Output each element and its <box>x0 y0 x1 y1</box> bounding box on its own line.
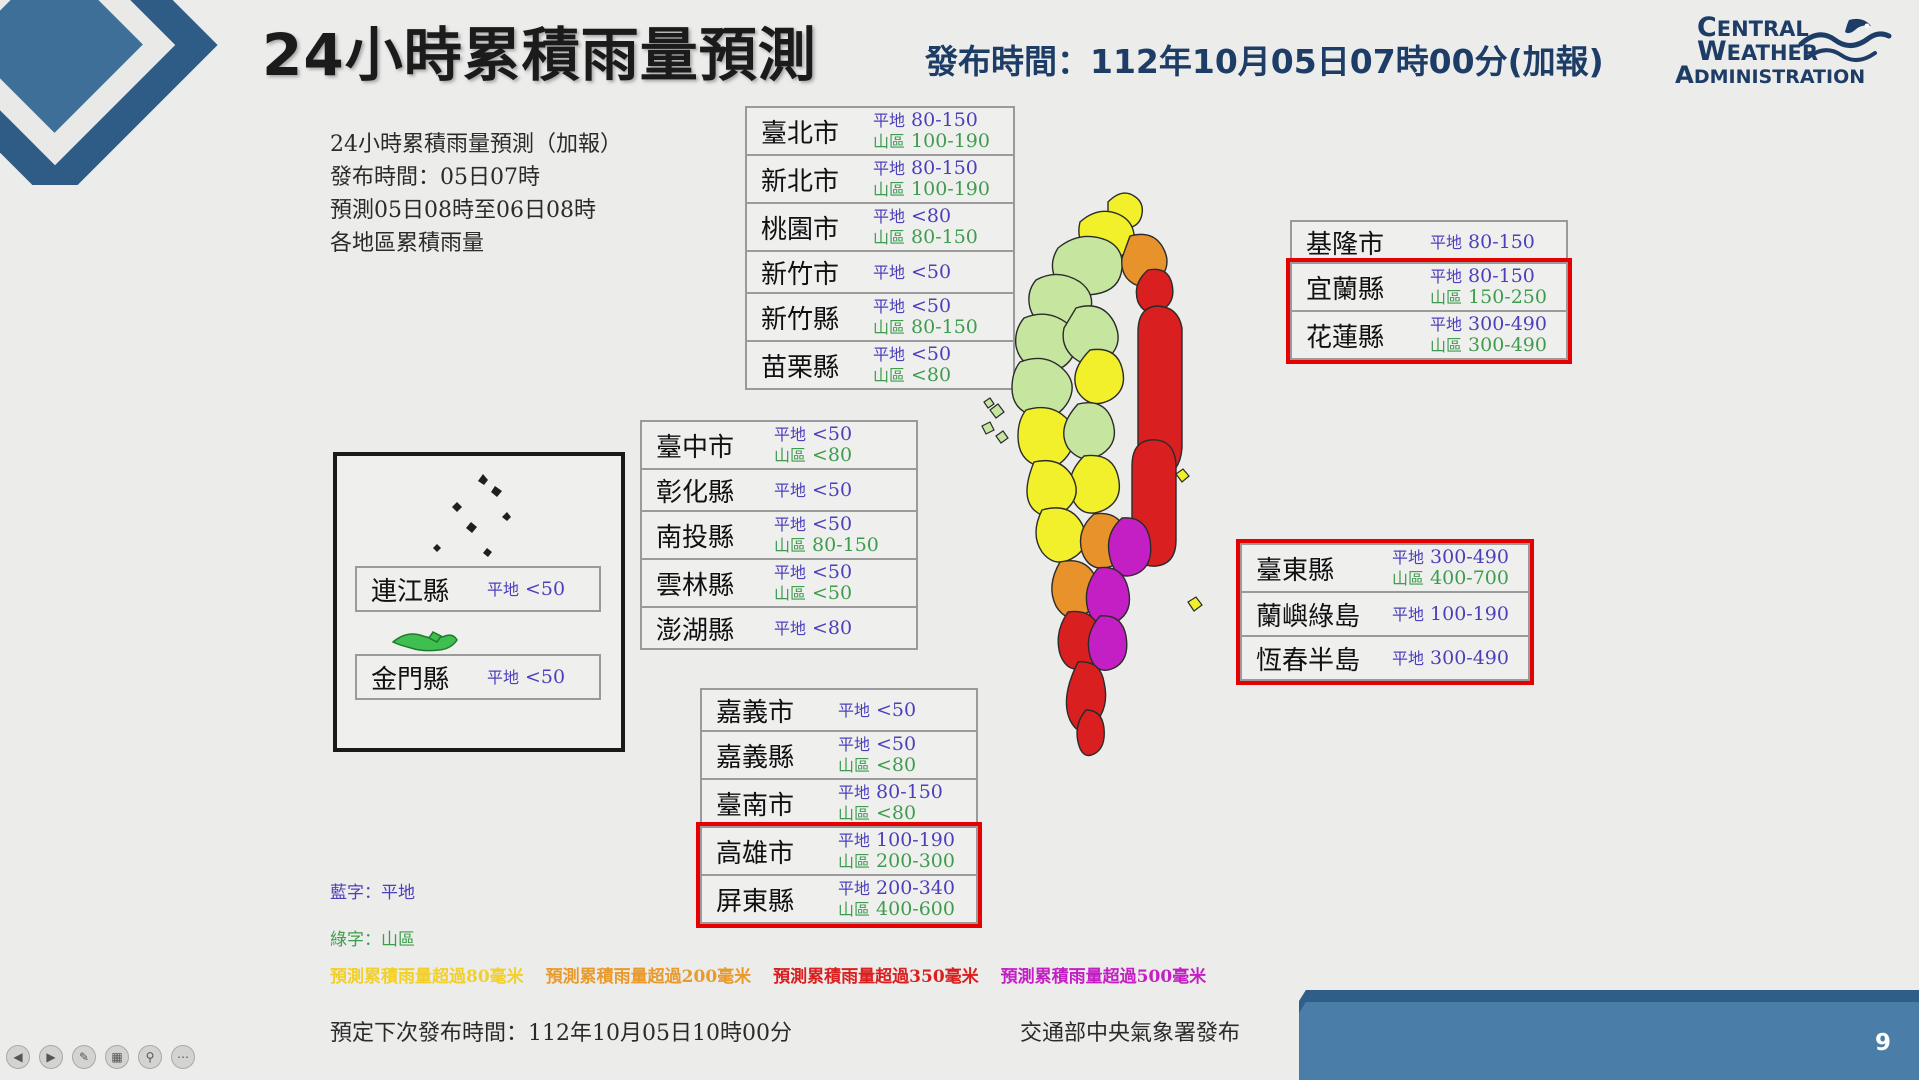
county-values: 平地<50 <box>487 579 565 600</box>
plain-value: <50 <box>812 480 852 501</box>
county-values: 平地<80山區80-150 <box>873 206 978 247</box>
zoom-icon[interactable]: ⚲ <box>138 1045 162 1069</box>
county-row[interactable]: 屏東縣平地200-340山區400-600 <box>700 874 978 924</box>
mountain-value-line: 山區300-490 <box>1430 335 1547 356</box>
county-name: 新竹市 <box>761 254 873 291</box>
mountain-label: 山區 <box>774 537 806 554</box>
county-name: 臺中市 <box>656 427 774 464</box>
plain-label: 平地 <box>838 702 870 719</box>
presentation-toolbar[interactable]: ◀ ▶ ✎ ▦ ⚲ ⋯ <box>6 1045 195 1069</box>
mountain-value-line: 山區80-150 <box>873 317 978 338</box>
plain-value-line: 平地<50 <box>774 562 852 583</box>
county-row[interactable]: 南投縣平地<50山區80-150 <box>640 510 918 560</box>
cwa-logo: CCENTRALENTRAL WEATHER ADMINISTRATION <box>1667 10 1897 90</box>
plain-value-line: 平地300-490 <box>1392 648 1509 669</box>
plain-value-line: 平地<50 <box>838 734 916 755</box>
plain-label: 平地 <box>1392 549 1424 566</box>
mountain-value: <80 <box>911 365 951 386</box>
plain-value-line: 平地300-490 <box>1430 314 1547 335</box>
mountain-value: <80 <box>876 803 916 824</box>
plain-label: 平地 <box>1392 650 1424 667</box>
plain-value: <50 <box>812 514 852 535</box>
orchid-island-icon <box>1188 597 1202 611</box>
county-values: 平地80-150山區100-190 <box>873 110 990 151</box>
county-name: 彰化縣 <box>656 472 774 509</box>
mountain-label: 山區 <box>1430 337 1462 354</box>
county-values: 平地80-150 <box>1430 232 1535 253</box>
mountain-value: <50 <box>812 583 852 604</box>
description-line-4: 各地區累積雨量 <box>330 227 622 260</box>
mountain-value: 200-300 <box>876 851 955 872</box>
county-values: 平地<50山區80-150 <box>873 296 978 337</box>
plain-value: 80-150 <box>911 158 978 179</box>
mountain-value: 300-490 <box>1468 335 1547 356</box>
county-name: 嘉義縣 <box>716 737 838 774</box>
forecast-description: 24小時累積雨量預測（加報） 發布時間：05日07時 預測05日08時至06日0… <box>330 128 622 260</box>
county-row[interactable]: 新竹縣平地<50山區80-150 <box>745 292 1015 342</box>
county-row[interactable]: 新北市平地80-150山區100-190 <box>745 154 1015 204</box>
description-line-3: 預測05日08時至06日08時 <box>330 194 622 227</box>
description-line-2: 發布時間：05日07時 <box>330 161 622 194</box>
mountain-value-line: 山區80-150 <box>873 227 978 248</box>
county-row[interactable]: 澎湖縣平地<80 <box>640 606 918 650</box>
county-name: 苗栗縣 <box>761 347 873 384</box>
mountain-value-line: 山區150-250 <box>1430 287 1547 308</box>
mountain-value: 100-190 <box>911 131 990 152</box>
plain-label: 平地 <box>774 564 806 581</box>
mountain-value-line: 山區100-190 <box>873 131 990 152</box>
county-values: 平地<50 <box>838 700 916 721</box>
plain-label: 平地 <box>873 264 905 281</box>
county-name: 金門縣 <box>371 659 487 696</box>
plain-value: <50 <box>812 424 852 445</box>
key-mountain-label: 綠字：山區 <box>330 925 415 950</box>
plain-value-line: 平地80-150 <box>838 782 943 803</box>
county-name: 嘉義市 <box>716 692 838 729</box>
county-row[interactable]: 桃園市平地<80山區80-150 <box>745 202 1015 252</box>
plain-value: 300-490 <box>1468 314 1547 335</box>
mountain-label: 山區 <box>838 805 870 822</box>
county-row[interactable]: 苗栗縣平地<50山區<80 <box>745 340 1015 390</box>
county-group-central: 臺中市平地<50山區<80彰化縣平地<50南投縣平地<50山區80-150雲林縣… <box>640 422 918 650</box>
plain-label: 平地 <box>873 160 905 177</box>
plain-label: 平地 <box>838 880 870 897</box>
plain-value: 300-490 <box>1430 547 1509 568</box>
plain-value-line: 平地80-150 <box>873 158 990 179</box>
legend-item: 預測累積雨量超過350毫米 <box>773 962 979 987</box>
plain-value-line: 平地100-190 <box>838 830 955 851</box>
county-group-north: 臺北市平地80-150山區100-190新北市平地80-150山區100-190… <box>745 108 1015 390</box>
previous-slide-button[interactable]: ◀ <box>6 1045 30 1069</box>
mountain-value-line: 山區400-700 <box>1392 568 1509 589</box>
county-name: 新竹縣 <box>761 299 873 336</box>
mountain-label: 山區 <box>838 853 870 870</box>
plain-value: <80 <box>911 206 951 227</box>
plain-value: <50 <box>876 734 916 755</box>
plain-value: <50 <box>525 667 565 688</box>
mountain-label: 山區 <box>873 367 905 384</box>
plain-value-line: 平地<80 <box>873 206 978 227</box>
mountain-value: 400-700 <box>1430 568 1509 589</box>
plain-label: 平地 <box>873 112 905 129</box>
county-values: 平地80-150山區150-250 <box>1430 266 1547 307</box>
plain-value: <50 <box>525 579 565 600</box>
county-name: 雲林縣 <box>656 565 774 602</box>
plain-value: <50 <box>911 296 951 317</box>
plain-value: 300-490 <box>1430 648 1509 669</box>
county-values: 平地<50 <box>487 667 565 688</box>
plain-value: 80-150 <box>876 782 943 803</box>
mountain-label: 山區 <box>774 585 806 602</box>
county-values: 平地300-490 <box>1392 648 1509 669</box>
page-title: 24小時累積雨量預測 <box>262 8 817 92</box>
mountain-label: 山區 <box>838 757 870 774</box>
county-values: 平地<50山區80-150 <box>774 514 879 555</box>
issue-time-subtitle: 發布時間：112年10月05日07時00分(加報) <box>925 35 1604 83</box>
plain-label: 平地 <box>838 832 870 849</box>
next-issue-time: 預定下次發布時間：112年10月05日10時00分 <box>330 1015 792 1047</box>
county-values: 平地<50 <box>873 262 951 283</box>
mountain-value-line: 山區<80 <box>774 445 852 466</box>
plain-value-line: 平地<50 <box>487 667 565 688</box>
plain-label: 平地 <box>873 298 905 315</box>
plain-value-line: 平地<80 <box>774 618 852 639</box>
plain-value: 80-150 <box>1468 232 1535 253</box>
legend-item: 預測累積雨量超過500毫米 <box>1001 962 1207 987</box>
mountain-label: 山區 <box>774 447 806 464</box>
plain-value: 100-190 <box>876 830 955 851</box>
next-slide-button[interactable]: ▶ <box>39 1045 63 1069</box>
county-values: 平地80-150山區100-190 <box>873 158 990 199</box>
mountain-label: 山區 <box>1392 570 1424 587</box>
county-row[interactable]: 新竹市平地<50 <box>745 250 1015 294</box>
plain-label: 平地 <box>1430 316 1462 333</box>
taiwan-rainfall-map <box>980 110 1340 790</box>
plain-value: 80-150 <box>1468 266 1535 287</box>
plain-label: 平地 <box>774 426 806 443</box>
key-plain-label: 藍字：平地 <box>330 878 415 903</box>
county-group-south: 嘉義市平地<50嘉義縣平地<50山區<80臺南市平地80-150山區<80高雄市… <box>700 690 978 924</box>
plain-label: 平地 <box>873 346 905 363</box>
slide-header: 24小時累積雨量預測 發布時間：112年10月05日07時00分(加報) <box>0 0 1919 96</box>
plain-value: 100-190 <box>1430 604 1509 625</box>
plain-label: 平地 <box>838 736 870 753</box>
plain-label: 平地 <box>774 482 806 499</box>
county-values: 平地300-490山區300-490 <box>1430 314 1547 355</box>
plain-value-line: 平地<50 <box>873 262 951 283</box>
plain-value-line: 平地100-190 <box>1392 604 1509 625</box>
county-row[interactable]: 雲林縣平地<50山區<50 <box>640 558 918 608</box>
issuing-agency: 交通部中央氣象署發布 <box>1020 1015 1240 1047</box>
plain-value-line: 平地<50 <box>838 700 916 721</box>
legend-item: 預測累積雨量超過200毫米 <box>546 962 752 987</box>
pen-icon[interactable]: ✎ <box>72 1045 96 1069</box>
penghu-islands-icon <box>982 398 1008 443</box>
county-row[interactable]: 臺中市平地<50山區<80 <box>640 420 918 470</box>
logo-line-3: ADMINISTRATION <box>1675 60 1865 89</box>
plain-label: 平地 <box>838 784 870 801</box>
legend-item: 預測累積雨量超過80毫米 <box>330 962 524 987</box>
county-name: 連江縣 <box>371 571 487 608</box>
county-row[interactable]: 臺北市平地80-150山區100-190 <box>745 106 1015 156</box>
plain-value-line: 平地<50 <box>774 480 852 501</box>
plain-value-line: 平地80-150 <box>1430 266 1547 287</box>
plain-label: 平地 <box>487 581 519 598</box>
mountain-value: <80 <box>876 755 916 776</box>
county-values: 平地<50山區<80 <box>838 734 916 775</box>
county-row[interactable]: 嘉義市平地<50 <box>700 688 978 732</box>
county-values: 平地100-190 <box>1392 604 1509 625</box>
slide-overview-icon[interactable]: ▦ <box>105 1045 129 1069</box>
county-values: 平地<50山區<80 <box>873 344 951 385</box>
plain-value: 200-340 <box>876 878 955 899</box>
plain-label: 平地 <box>774 620 806 637</box>
county-row[interactable]: 臺南市平地80-150山區<80 <box>700 778 978 828</box>
county-name: 新北市 <box>761 161 873 198</box>
plain-value-line: 平地80-150 <box>873 110 990 131</box>
county-name: 臺南市 <box>716 785 838 822</box>
plain-label: 平地 <box>1392 606 1424 623</box>
county-row[interactable]: 金門縣平地<50 <box>355 654 601 700</box>
bottom-right-decoration <box>1299 960 1919 1080</box>
plain-label: 平地 <box>1430 268 1462 285</box>
mountain-value-line: 山區400-600 <box>838 899 955 920</box>
plain-value: <50 <box>876 700 916 721</box>
mountain-value: 80-150 <box>911 227 978 248</box>
county-row[interactable]: 彰化縣平地<50 <box>640 468 918 512</box>
mountain-value: 400-600 <box>876 899 955 920</box>
more-options-icon[interactable]: ⋯ <box>171 1045 195 1069</box>
county-values: 平地<50山區<80 <box>774 424 852 465</box>
county-values: 平地<50 <box>774 480 852 501</box>
county-values: 平地300-490山區400-700 <box>1392 547 1509 588</box>
plain-value-line: 平地300-490 <box>1392 547 1509 568</box>
plain-value: <50 <box>911 262 951 283</box>
mountain-label: 山區 <box>873 133 905 150</box>
plain-value: <50 <box>911 344 951 365</box>
county-values: 平地100-190山區200-300 <box>838 830 955 871</box>
county-name: 高雄市 <box>716 833 838 870</box>
plain-label: 平地 <box>774 516 806 533</box>
description-line-1: 24小時累積雨量預測（加報） <box>330 128 622 161</box>
county-name: 臺北市 <box>761 113 873 150</box>
plain-value-line: 平地<50 <box>873 296 978 317</box>
county-row[interactable]: 嘉義縣平地<50山區<80 <box>700 730 978 780</box>
plain-value: <80 <box>812 618 852 639</box>
offshore-islands-inset: 連江縣平地<50金門縣平地<50 <box>333 452 625 752</box>
rainfall-color-legend: 預測累積雨量超過80毫米預測累積雨量超過200毫米預測累積雨量超過350毫米預測… <box>330 962 1350 987</box>
mountain-label: 山區 <box>873 319 905 336</box>
plain-value-line: 平地200-340 <box>838 878 955 899</box>
taiwan-map-svg <box>980 110 1340 790</box>
mountain-value-line: 山區<50 <box>774 583 852 604</box>
mountain-value: 80-150 <box>812 535 879 556</box>
plain-value-line: 平地<50 <box>774 424 852 445</box>
plain-value-line: 平地80-150 <box>1430 232 1535 253</box>
plain-value: 80-150 <box>911 110 978 131</box>
mountain-value: 80-150 <box>911 317 978 338</box>
mountain-value-line: 山區<80 <box>838 803 943 824</box>
plain-value-line: 平地<50 <box>774 514 879 535</box>
county-values: 平地<50山區<50 <box>774 562 852 603</box>
county-name: 澎湖縣 <box>656 610 774 647</box>
county-values: 平地200-340山區400-600 <box>838 878 955 919</box>
mountain-value-line: 山區<80 <box>838 755 916 776</box>
county-name: 屏東縣 <box>716 881 838 918</box>
mountain-value-line: 山區<80 <box>873 365 951 386</box>
plain-value: <50 <box>812 562 852 583</box>
mountain-value: <80 <box>812 445 852 466</box>
plain-value-line: 平地<50 <box>487 579 565 600</box>
mountain-label: 山區 <box>873 181 905 198</box>
mountain-value-line: 山區200-300 <box>838 851 955 872</box>
plain-value-line: 平地<50 <box>873 344 951 365</box>
county-row[interactable]: 高雄市平地100-190山區200-300 <box>700 826 978 876</box>
mountain-value-line: 山區80-150 <box>774 535 879 556</box>
mountain-value: 100-190 <box>911 179 990 200</box>
plain-label: 平地 <box>1430 234 1462 251</box>
mountain-label: 山區 <box>838 901 870 918</box>
page-number: 9 <box>1875 1030 1891 1056</box>
plain-label: 平地 <box>487 669 519 686</box>
county-values: 平地80-150山區<80 <box>838 782 943 823</box>
county-values: 平地<80 <box>774 618 852 639</box>
green-island-icon <box>1176 469 1189 482</box>
county-name: 南投縣 <box>656 517 774 554</box>
county-row[interactable]: 連江縣平地<50 <box>355 566 601 612</box>
mountain-value: 150-250 <box>1468 287 1547 308</box>
county-name: 桃園市 <box>761 209 873 246</box>
mountain-label: 山區 <box>1430 289 1462 306</box>
mountain-value-line: 山區100-190 <box>873 179 990 200</box>
plain-label: 平地 <box>873 208 905 225</box>
mountain-label: 山區 <box>873 229 905 246</box>
